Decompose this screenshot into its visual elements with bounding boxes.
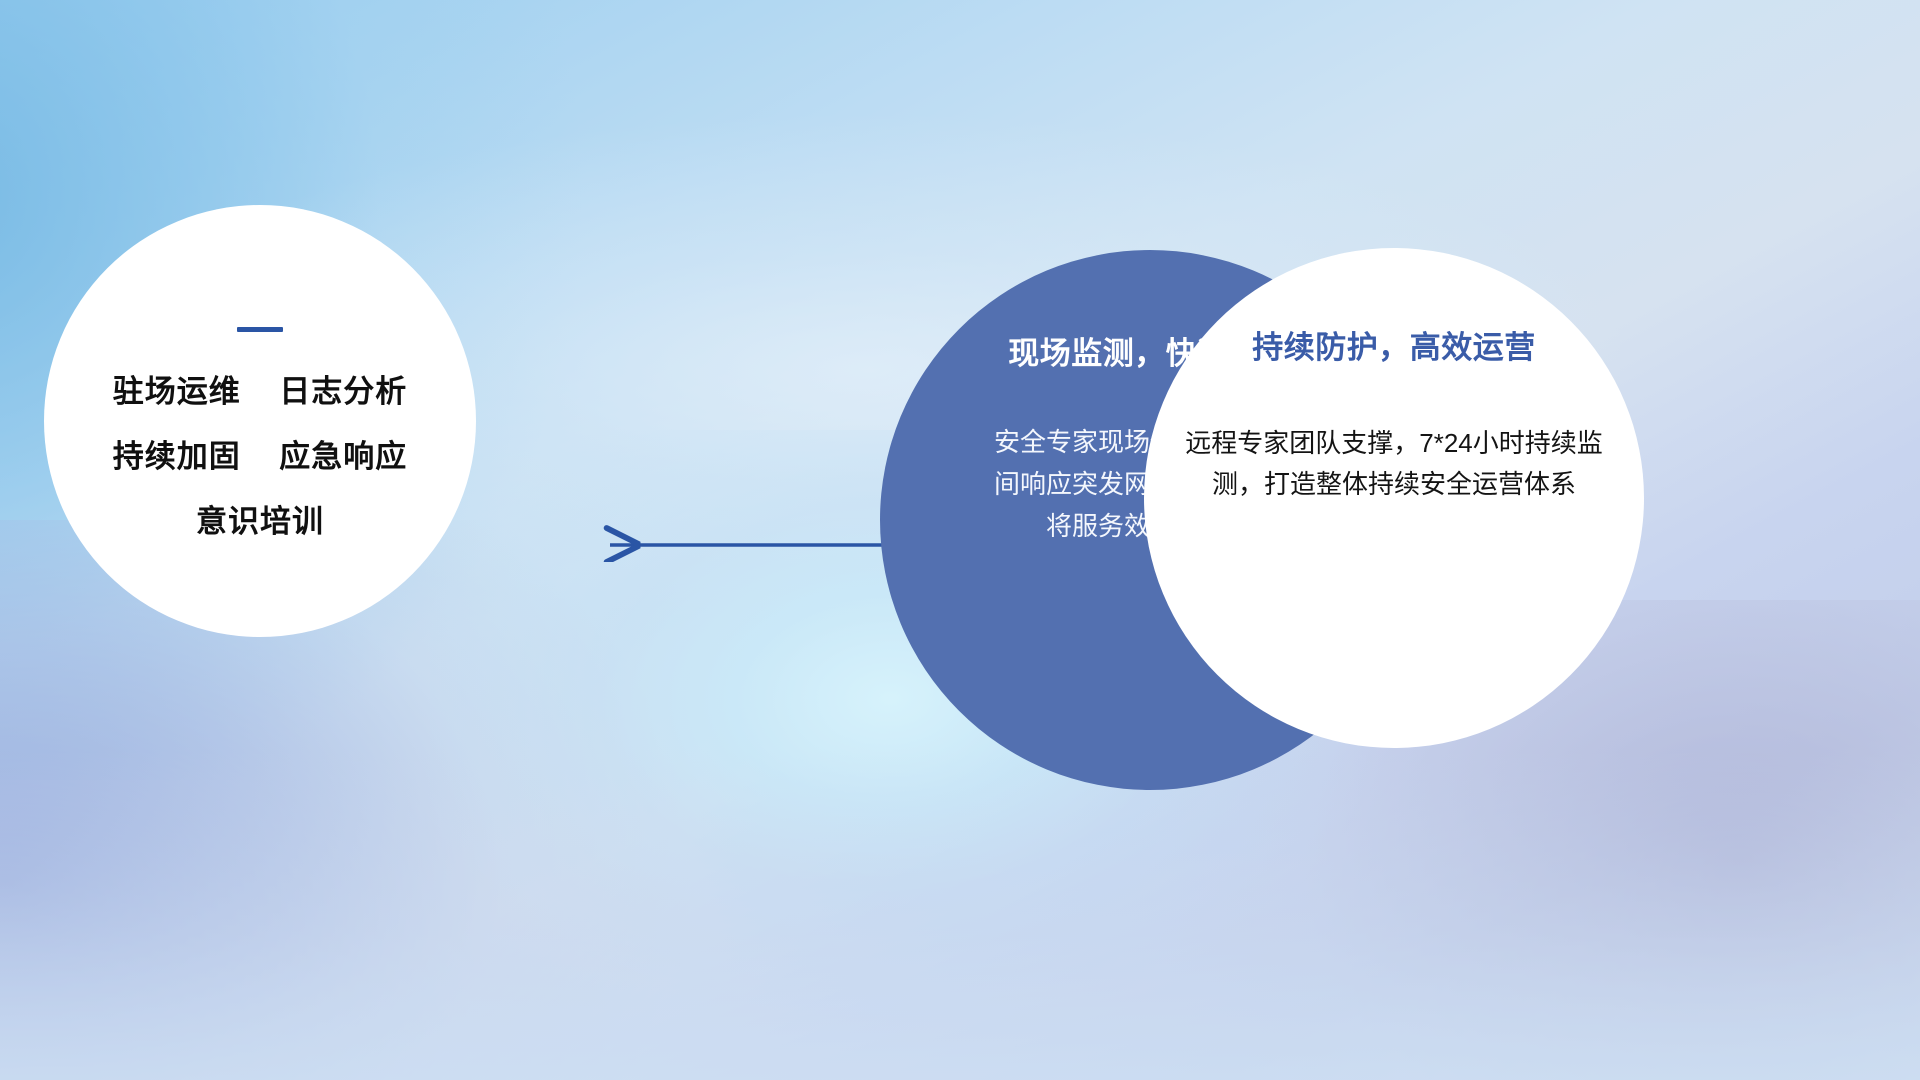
flow-arrow-icon <box>596 512 886 578</box>
service-scope-content: 驻场运维 日志分析 持续加固 应急响应 意识培训 <box>44 205 476 637</box>
continuous-protection-body: 远程专家团队支撑，7*24小时持续监测，打造整体持续安全运营体系 <box>1179 423 1609 505</box>
list-item: 驻场运维 日志分析 <box>113 376 407 407</box>
service-scope-card[interactable]: 驻场运维 日志分析 持续加固 应急响应 意识培训 <box>44 205 476 637</box>
list-item: 意识培训 <box>113 506 407 537</box>
continuous-protection-title: 持续防护，高效运营 <box>1252 322 1536 367</box>
continuous-protection-card[interactable]: 持续防护，高效运营 远程专家团队支撑，7*24小时持续监测，打造整体持续安全运营… <box>1144 248 1644 748</box>
list-item: 持续加固 应急响应 <box>113 441 407 472</box>
background-bottom-fade <box>0 750 1920 1080</box>
accent-dash-icon <box>237 327 283 332</box>
service-scope-list: 驻场运维 日志分析 持续加固 应急响应 意识培训 <box>113 376 407 537</box>
continuous-protection-content: 持续防护，高效运营 远程专家团队支撑，7*24小时持续监测，打造整体持续安全运营… <box>1144 248 1644 748</box>
slide-canvas: 驻场运维 日志分析 持续加固 应急响应 意识培训 现场监测，快速响应 安全专家现… <box>0 0 1920 1080</box>
